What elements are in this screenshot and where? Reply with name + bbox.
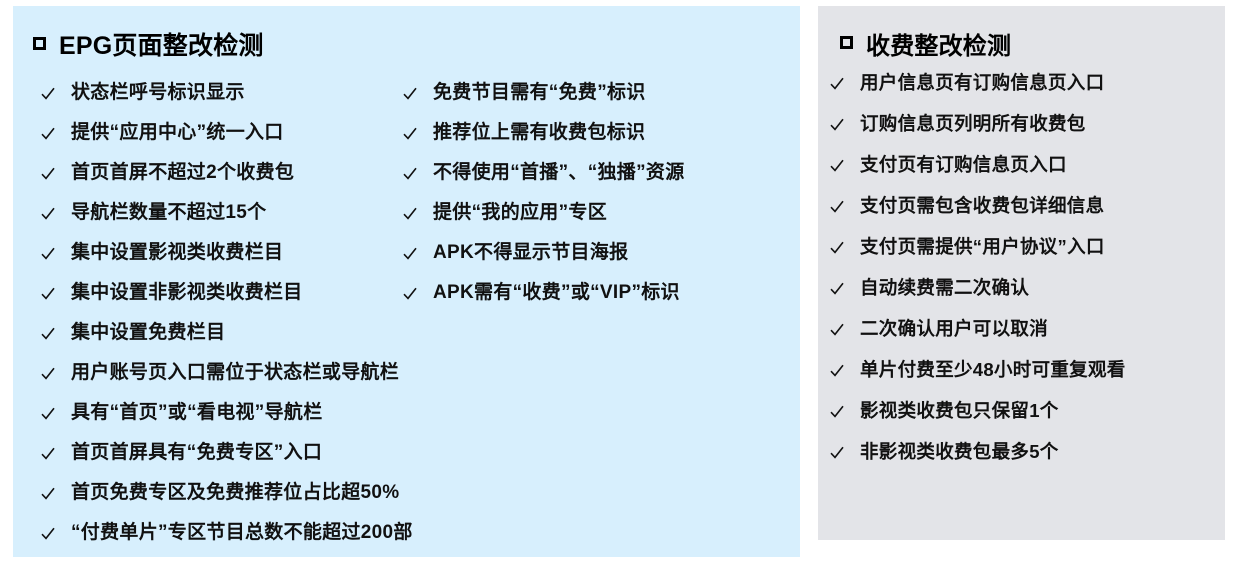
list-item[interactable]: APK需有“收费”或“VIP”标识 [403, 282, 803, 322]
list-item-label: 不得使用“首播”、“独播”资源 [433, 162, 685, 184]
list-item[interactable]: 提供“应用中心”统一入口 [41, 122, 411, 162]
list-item[interactable]: 首页免费专区及免费推荐位占比超50% [41, 482, 411, 522]
list-item[interactable]: APK不得显示节目海报 [403, 242, 803, 282]
check-icon [41, 127, 55, 141]
fee-checklist-column-1: 用户信息页有订购信息页入口 订购信息页列明所有收费包 支付页有订购信息页入口 支… [830, 72, 1230, 482]
epg-checklist-column-2: 免费节目需有“免费”标识 推荐位上需有收费包标识 不得使用“首播”、“独播”资源… [403, 82, 803, 322]
list-item[interactable]: 首页首屏具有“免费专区”入口 [41, 442, 411, 482]
list-item-label: 集中设置影视类收费栏目 [71, 242, 283, 264]
list-item[interactable]: 单片付费至少48小时可重复观看 [830, 359, 1230, 400]
check-icon [830, 405, 844, 419]
list-item-label: APK不得显示节目海报 [433, 242, 628, 264]
list-item-label: “付费单片”专区节目总数不能超过200部 [71, 522, 413, 544]
list-item-label: 集中设置非影视类收费栏目 [71, 282, 303, 304]
list-item[interactable]: 订购信息页列明所有收费包 [830, 113, 1230, 154]
list-item[interactable]: 推荐位上需有收费包标识 [403, 122, 803, 162]
list-item-label: 推荐位上需有收费包标识 [433, 122, 645, 144]
check-icon [403, 127, 417, 141]
list-item[interactable]: 导航栏数量不超过15个 [41, 202, 411, 242]
list-item-label: 二次确认用户可以取消 [860, 318, 1048, 340]
check-icon [830, 323, 844, 337]
list-item-label: 首页免费专区及免费推荐位占比超50% [71, 482, 399, 504]
list-item-label: 影视类收费包只保留1个 [860, 400, 1059, 422]
epg-panel: EPG页面整改检测 状态栏呼号标识显示 提供“应用中心”统一入口 首页首屏不超过… [13, 6, 800, 557]
fee-panel-title-text: 收费整改检测 [866, 26, 1011, 61]
list-item-label: 首页首屏不超过2个收费包 [71, 162, 294, 184]
check-icon [41, 287, 55, 301]
list-item[interactable]: 支付页需提供“用户协议”入口 [830, 236, 1230, 277]
check-icon [830, 159, 844, 173]
check-icon [41, 87, 55, 101]
list-item-label: 免费节目需有“免费”标识 [433, 82, 646, 104]
list-item[interactable]: 不得使用“首播”、“独播”资源 [403, 162, 803, 202]
list-item[interactable]: 用户信息页有订购信息页入口 [830, 72, 1230, 113]
square-outline-icon [840, 36, 853, 49]
check-icon [403, 87, 417, 101]
check-icon [830, 118, 844, 132]
check-icon [403, 207, 417, 221]
list-item[interactable]: 非影视类收费包最多5个 [830, 441, 1230, 482]
list-item[interactable]: 用户账号页入口需位于状态栏或导航栏 [41, 362, 411, 402]
check-icon [41, 327, 55, 341]
list-item[interactable]: 具有“首页”或“看电视”导航栏 [41, 402, 411, 442]
list-item-label: 提供“应用中心”统一入口 [71, 122, 284, 144]
check-icon [830, 282, 844, 296]
check-icon [41, 367, 55, 381]
square-outline-icon [33, 37, 46, 50]
epg-panel-title: EPG页面整改检测 [33, 26, 264, 62]
list-item[interactable]: 免费节目需有“免费”标识 [403, 82, 803, 122]
list-item-label: 具有“首页”或“看电视”导航栏 [71, 402, 323, 424]
list-item[interactable]: 集中设置免费栏目 [41, 322, 411, 362]
check-icon [41, 447, 55, 461]
list-item-label: 订购信息页列明所有收费包 [860, 113, 1086, 135]
list-item-label: 用户信息页有订购信息页入口 [860, 72, 1104, 94]
list-item[interactable]: “付费单片”专区节目总数不能超过200部 [41, 522, 411, 562]
check-icon [830, 241, 844, 255]
list-item-label: 导航栏数量不超过15个 [71, 202, 266, 224]
list-item[interactable]: 集中设置非影视类收费栏目 [41, 282, 411, 322]
epg-checklist-column-1: 状态栏呼号标识显示 提供“应用中心”统一入口 首页首屏不超过2个收费包 导航栏数… [41, 82, 411, 562]
list-item[interactable]: 支付页需包含收费包详细信息 [830, 195, 1230, 236]
check-icon [41, 207, 55, 221]
list-item-label: 提供“我的应用”专区 [433, 202, 607, 224]
list-item-label: 首页首屏具有“免费专区”入口 [71, 442, 322, 464]
check-icon [403, 247, 417, 261]
check-icon [830, 77, 844, 91]
check-icon [41, 487, 55, 501]
list-item-label: APK需有“收费”或“VIP”标识 [433, 282, 680, 304]
list-item-label: 非影视类收费包最多5个 [860, 441, 1059, 463]
list-item[interactable]: 影视类收费包只保留1个 [830, 400, 1230, 441]
list-item[interactable]: 支付页有订购信息页入口 [830, 154, 1230, 195]
list-item[interactable]: 首页首屏不超过2个收费包 [41, 162, 411, 202]
list-item-label: 支付页需提供“用户协议”入口 [860, 236, 1105, 258]
check-icon [830, 446, 844, 460]
check-icon [41, 407, 55, 421]
check-icon [830, 200, 844, 214]
list-item-label: 自动续费需二次确认 [860, 277, 1029, 299]
list-item-label: 集中设置免费栏目 [71, 322, 225, 344]
list-item-label: 支付页需包含收费包详细信息 [860, 195, 1104, 217]
list-item-label: 用户账号页入口需位于状态栏或导航栏 [71, 362, 399, 384]
check-icon [830, 364, 844, 378]
check-icon [41, 527, 55, 541]
list-item[interactable]: 集中设置影视类收费栏目 [41, 242, 411, 282]
list-item[interactable]: 自动续费需二次确认 [830, 277, 1230, 318]
epg-panel-title-text: EPG页面整改检测 [59, 26, 264, 62]
list-item-label: 支付页有订购信息页入口 [860, 154, 1067, 176]
check-icon [403, 287, 417, 301]
list-item-label: 单片付费至少48小时可重复观看 [860, 359, 1126, 381]
check-icon [41, 247, 55, 261]
check-icon [403, 167, 417, 181]
list-item[interactable]: 二次确认用户可以取消 [830, 318, 1230, 359]
list-item[interactable]: 状态栏呼号标识显示 [41, 82, 411, 122]
fee-panel-title: 收费整改检测 [840, 26, 1011, 61]
list-item-label: 状态栏呼号标识显示 [71, 82, 245, 104]
check-icon [41, 167, 55, 181]
list-item[interactable]: 提供“我的应用”专区 [403, 202, 803, 242]
